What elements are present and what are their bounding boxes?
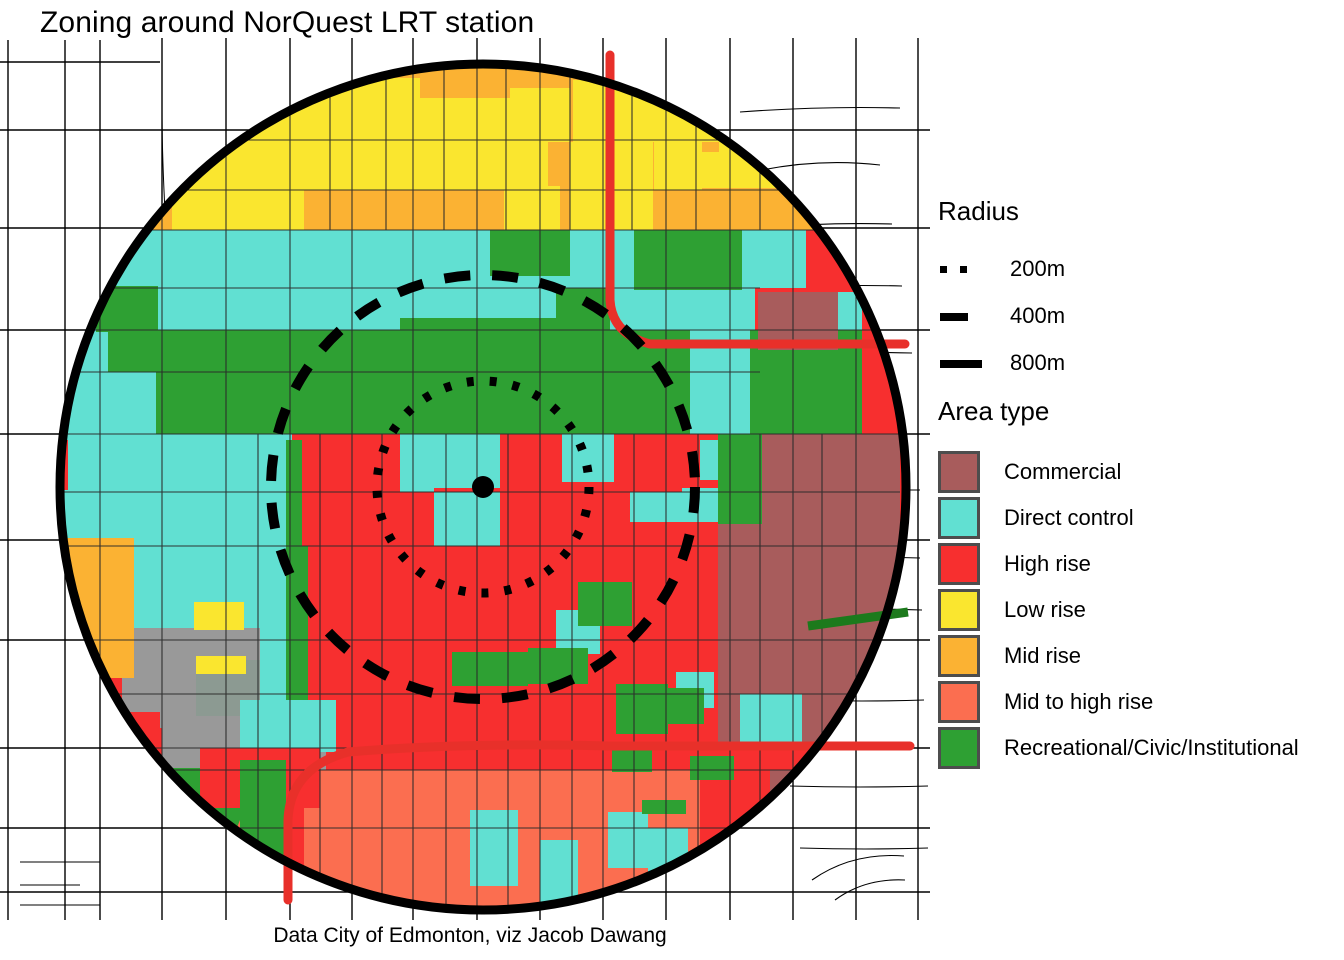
legend-areatype-item-direct-control[interactable]: Direct control [938, 495, 1134, 541]
swatch-mid-to-high-rise [938, 681, 980, 723]
legend-radius-item-200m[interactable]: 200m [938, 246, 1065, 292]
solid-line-icon [938, 340, 992, 386]
legend-areatype-item-high-rise[interactable]: High rise [938, 541, 1091, 587]
radius-rings-layer [0, 0, 930, 920]
legend-areatype-item-low-rise[interactable]: Low rise [938, 587, 1086, 633]
legend-radius-item-400m[interactable]: 400m [938, 293, 1065, 339]
swatch-high-rise [938, 543, 980, 585]
legend-areatype-item-recreational[interactable]: Recreational/Civic/Institutional [938, 725, 1299, 771]
map-canvas[interactable] [0, 0, 930, 920]
legend-radius-label-200m: 200m [1010, 256, 1065, 282]
legend-areatype-label-recreational: Recreational/Civic/Institutional [1004, 735, 1299, 761]
swatch-low-rise [938, 589, 980, 631]
legend-areatype-label-mid-to-high-rise: Mid to high rise [1004, 689, 1153, 715]
swatch-recreational [938, 727, 980, 769]
swatch-direct-control [938, 497, 980, 539]
legend-areatype-label-commercial: Commercial [1004, 459, 1121, 485]
legend-areatype-label-direct-control: Direct control [1004, 505, 1134, 531]
legend-panel: Radius 200m 400m 800m Area type Commerci… [930, 0, 1344, 920]
source-caption: Data City of Edmonton, viz Jacob Dawang [0, 924, 940, 948]
legend-areatype-label-high-rise: High rise [1004, 551, 1091, 577]
station-dot [472, 476, 494, 498]
dotted-line-icon [938, 246, 992, 292]
legend-radius-title: Radius [938, 196, 1019, 227]
dashed-line-icon [938, 293, 992, 339]
swatch-mid-rise [938, 635, 980, 677]
legend-areatype-item-mid-to-high-rise[interactable]: Mid to high rise [938, 679, 1153, 725]
legend-areatype-item-commercial[interactable]: Commercial [938, 449, 1121, 495]
legend-radius-label-400m: 400m [1010, 303, 1065, 329]
legend-areatype-item-mid-rise[interactable]: Mid rise [938, 633, 1081, 679]
legend-radius-item-800m[interactable]: 800m [938, 340, 1065, 386]
legend-radius-label-800m: 800m [1010, 350, 1065, 376]
legend-areatype-label-mid-rise: Mid rise [1004, 643, 1081, 669]
swatch-commercial [938, 451, 980, 493]
legend-areatype-label-low-rise: Low rise [1004, 597, 1086, 623]
legend-areatype-title: Area type [938, 396, 1049, 427]
